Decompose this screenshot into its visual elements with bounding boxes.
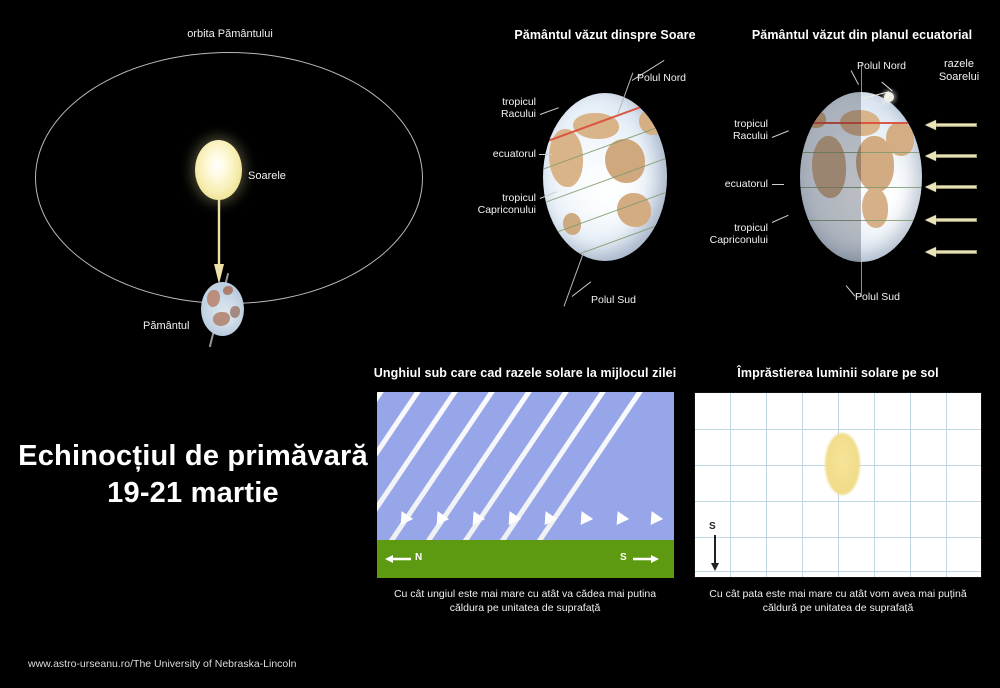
spread-panel-title: Împrăstierea luminii solare pe sol — [690, 366, 986, 380]
leader-south-pole-from-sun — [572, 281, 592, 297]
spread-panel-caption: Cu cât pata este mai mare cu atât vom av… — [676, 588, 1000, 615]
leader-north-pole-equatorial — [851, 70, 859, 85]
angle-caption-line2: căldura pe unitatea de suprafață — [358, 602, 692, 616]
label-tropic-capricorn-from-sun: tropicul Capriconului — [462, 192, 536, 216]
sun-icon — [195, 140, 242, 200]
label-north-pole-from-sun: Polul Nord — [637, 72, 686, 84]
label-equator-equatorial: ecuatorul — [700, 178, 768, 190]
globe-from-sun-title: Pământul văzut dinspre Soare — [455, 28, 755, 42]
infographic-canvas: orbita Pământului Soarele Pământul Pămân… — [0, 0, 1000, 688]
south-axis-arrowhead-icon — [711, 563, 719, 571]
leader-south-pole-equatorial — [846, 285, 856, 296]
angle-panel-ground: N S — [377, 540, 674, 578]
page-title-line1: Echinocțiul de primăvară — [18, 438, 368, 475]
sun-label: Soarele — [248, 170, 286, 182]
south-arrow-icon — [633, 553, 659, 565]
tropic-cancer-line2: Racului — [476, 108, 536, 120]
label-tropic-cancer-equatorial: tropicul Racului — [706, 118, 768, 142]
footer-credit: www.astro-urseanu.ro/The University of N… — [28, 658, 296, 670]
label-north-pole-equatorial: Polul Nord — [857, 60, 906, 72]
angle-panel: N S — [377, 392, 674, 578]
sun-ray-arrow-3 — [925, 182, 977, 191]
sun-rays-label-line2: Soarelui — [920, 71, 998, 84]
subsolar-tick-1 — [881, 82, 892, 92]
sun-rays-label-line1: razele — [920, 58, 998, 71]
spread-panel: S — [694, 392, 982, 578]
sun-ray-arrow-4 — [925, 215, 977, 224]
spread-caption-line1: Cu cât pata este mai mare cu atât vom av… — [676, 588, 1000, 602]
sun-ray-arrow-5 — [925, 247, 977, 256]
angle-panel-sky — [377, 392, 674, 540]
leader-tropic-capricorn-equatorial — [772, 215, 789, 223]
leader-equator-equatorial — [772, 184, 784, 185]
tropic-capricorn-eq-line2: Capriconului — [694, 234, 768, 246]
leader-equator-from-sun — [539, 154, 552, 155]
globe-equatorial — [800, 92, 922, 262]
label-tropic-cancer-from-sun: tropicul Racului — [476, 96, 536, 120]
sun-ray-arrow-1 — [925, 120, 977, 129]
globe-equatorial-title: Pământul văzut din planul ecuatorial — [718, 28, 1000, 42]
orbit-label: orbita Pământului — [115, 28, 345, 40]
tropic-capricorn-eq-line1: tropicul — [694, 222, 768, 234]
north-arrow-icon — [385, 553, 411, 565]
leader-tropic-cancer-from-sun — [540, 107, 559, 115]
angle-panel-title: Unghiul sub care cad razele solare la mi… — [372, 366, 678, 380]
sun-ray-arrow-2 — [925, 151, 977, 160]
south-axis-marker: S — [709, 521, 716, 532]
leader-tropic-cancer-equatorial — [772, 130, 789, 138]
tropic-cancer-eq-line1: tropicul — [706, 118, 768, 130]
label-south-pole-from-sun: Polul Sud — [591, 294, 636, 306]
sunlight-spot — [825, 433, 860, 495]
page-title: Echinocțiul de primăvară 19-21 martie — [18, 438, 368, 512]
globe-from-sun — [543, 93, 667, 261]
south-label: S — [620, 552, 627, 563]
tropic-capricorn-line2: Capriconului — [462, 204, 536, 216]
south-axis-label: S — [709, 521, 716, 532]
tropic-cancer-eq-line2: Racului — [706, 130, 768, 142]
angle-panel-caption: Cu cât ungiul este mai mare cu atât va c… — [358, 588, 692, 615]
page-title-line2: 19-21 martie — [18, 475, 368, 512]
sun-to-earth-arrow-icon — [214, 200, 224, 285]
label-equator-from-sun: ecuatorul — [468, 148, 536, 160]
spread-caption-line2: căldură pe unitatea de suprafață — [676, 602, 1000, 616]
north-label: N — [415, 552, 422, 563]
tropic-cancer-line1: tropicul — [476, 96, 536, 108]
label-south-pole-equatorial: Polul Sud — [855, 291, 900, 303]
label-tropic-capricorn-equatorial: tropicul Capriconului — [694, 222, 768, 246]
earth-label: Pământul — [143, 320, 189, 332]
tropic-capricorn-line1: tropicul — [462, 192, 536, 204]
earth-globe-orbit — [201, 282, 244, 336]
sun-rays-label: razele Soarelui — [920, 58, 998, 84]
south-axis-stem — [714, 535, 716, 565]
angle-caption-line1: Cu cât ungiul este mai mare cu atât va c… — [358, 588, 692, 602]
